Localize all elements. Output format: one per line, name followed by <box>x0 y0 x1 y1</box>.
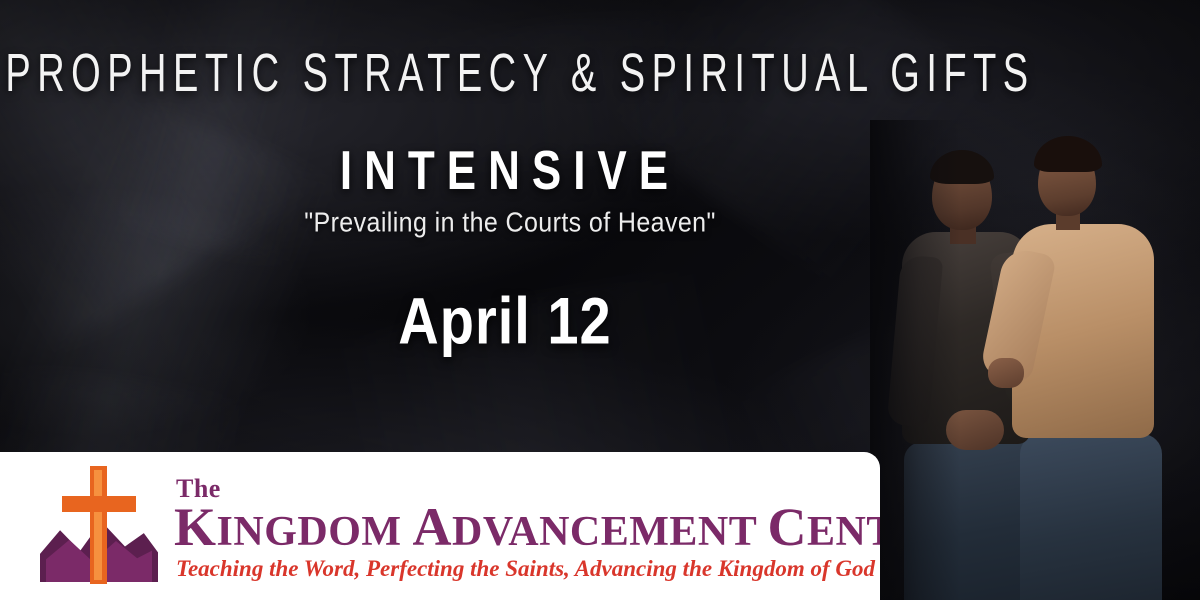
logo-name-ingdom: INGDOM <box>217 509 413 555</box>
cross-horizontal <box>62 496 136 512</box>
event-poster: PROPHETIC STRATECY & SPIRITUAL GIFTS INT… <box>0 0 1200 600</box>
poster-headline: PROPHETIC STRATECY & SPIRITUAL GIFTS <box>0 44 1040 105</box>
woman-legs <box>1020 434 1162 600</box>
logo-bar: The KINGDOM ADVANCEMENT CENTER Teaching … <box>0 452 880 600</box>
logo-name-dvancement: DVANCEMENT <box>452 509 768 555</box>
woman-hand <box>988 358 1024 388</box>
poster-date: April 12 <box>0 282 1010 359</box>
logo-name-a: A <box>413 497 453 557</box>
logo-name-enter: ENTER <box>807 509 880 555</box>
logo-name-c: C <box>768 497 808 557</box>
cross-over-mountains-logo-icon <box>36 466 162 584</box>
logo-tagline: Teaching the Word, Perfecting the Saints… <box>176 556 875 582</box>
logo-organization-name: KINGDOM ADVANCEMENT CENTER <box>174 496 880 558</box>
cross-vertical-highlight <box>94 470 102 580</box>
logo-name-k: K <box>174 497 217 557</box>
poster-event-type: INTENSIVE <box>0 140 1020 203</box>
poster-subtitle: "Prevailing in the Courts of Heaven" <box>0 207 1020 239</box>
